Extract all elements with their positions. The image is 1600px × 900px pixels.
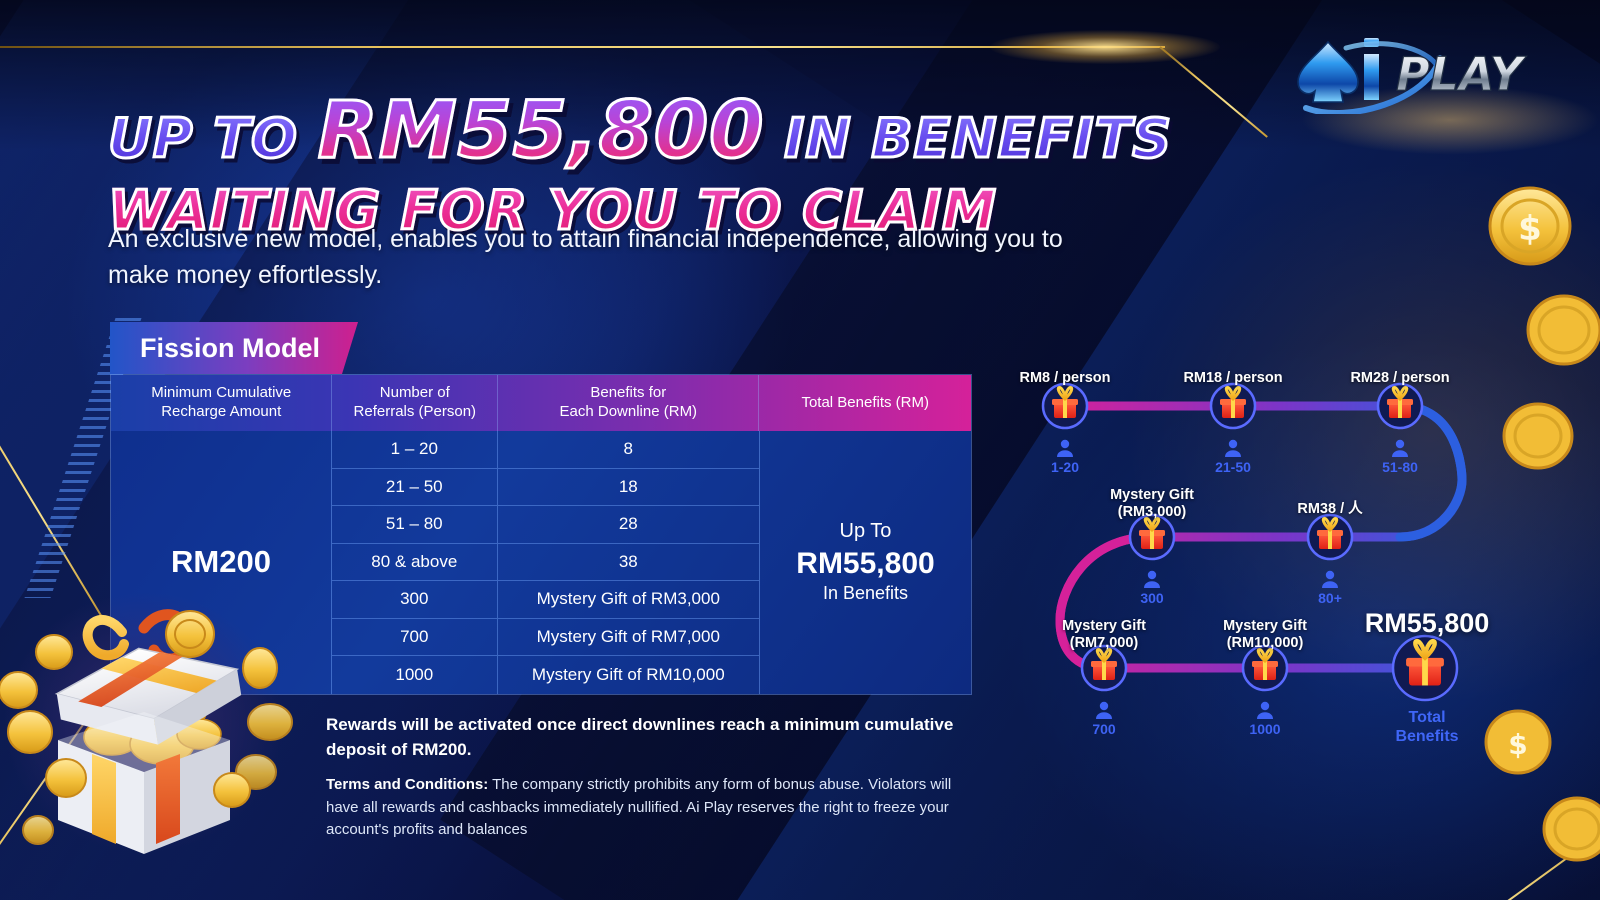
flow-node-label-line: RM18 / person	[1183, 370, 1282, 387]
cell-referrals: 300	[332, 581, 498, 618]
person-icon	[1225, 440, 1241, 457]
table-row: 21 – 5018	[332, 469, 759, 507]
flow-node-label-line: Mystery Gift	[1110, 487, 1194, 504]
flow-node-label-line: (RM3,000)	[1110, 504, 1194, 521]
th-line: Each Downline (RM)	[560, 403, 698, 422]
headline-up-to: UP TO	[108, 107, 298, 170]
fission-model-tab: Fission Model	[110, 322, 358, 374]
flow-total-label: TotalBenefits	[1395, 708, 1458, 746]
referral-flow-diagram: RM8 / person1-20RM18 / person21-50RM28 /…	[990, 350, 1530, 760]
coin-icon	[1500, 398, 1576, 474]
flow-node-label-line: Mystery Gift	[1223, 618, 1307, 635]
headline-amount: RM55,800	[318, 86, 765, 176]
total-up-to: Up To	[840, 520, 892, 543]
headline-line-1: UP TO RM55,800 IN BENEFITS	[108, 92, 1168, 170]
flow-node-label-line: Mystery Gift	[1062, 618, 1146, 635]
flow-node-count: 700	[1092, 721, 1115, 737]
gift-icon	[1393, 636, 1457, 700]
flow-node-label-line: RM28 / person	[1350, 370, 1449, 387]
flow-node-label-line: RM38 / 人	[1297, 501, 1362, 518]
activation-note: Rewards will be activated once direct do…	[326, 713, 976, 762]
person-icon	[1096, 702, 1112, 719]
table-header-total: Total Benefits (RM)	[759, 375, 971, 431]
gift-icon	[1308, 515, 1352, 559]
table-header-recharge: Minimum Cumulative Recharge Amount	[111, 375, 332, 431]
flow-node-count: 1000	[1249, 721, 1280, 737]
coin-icon: $	[1482, 706, 1554, 778]
total-benefits-cell: Up To RM55,800 In Benefits	[760, 431, 971, 694]
person-icon	[1392, 440, 1408, 457]
gift-icon	[1211, 384, 1255, 428]
cell-benefit: Mystery Gift of RM7,000	[498, 619, 759, 656]
th-line: Total Benefits (RM)	[801, 394, 929, 413]
table-row: 51 – 8028	[332, 506, 759, 544]
total-amount: RM55,800	[796, 547, 934, 581]
flow-node-count: 21-50	[1215, 459, 1251, 475]
table-row: 1000Mystery Gift of RM10,000	[332, 656, 759, 694]
cell-benefit: Mystery Gift of RM10,000	[498, 656, 759, 694]
th-line: Number of	[380, 384, 450, 403]
flow-node-label: RM8 / person	[1019, 370, 1110, 387]
flow-node-label: RM38 / 人	[1297, 501, 1362, 518]
brand-logo[interactable]: PLAY	[1288, 28, 1538, 114]
flow-node-label: RM28 / person	[1350, 370, 1449, 387]
flow-node-count: 1-20	[1051, 459, 1079, 475]
coin-icon: $	[1486, 182, 1574, 270]
gold-line-bottom-right-1	[1186, 804, 1600, 900]
cell-referrals: 700	[332, 619, 498, 656]
subtitle: An exclusive new model, enables you to a…	[108, 222, 1088, 293]
cell-benefit: Mystery Gift of RM3,000	[498, 581, 759, 618]
flow-node-label-line: (RM7,000)	[1062, 635, 1146, 652]
table-rows-container: 1 – 20821 – 501851 – 802880 & above38300…	[332, 431, 760, 694]
coin-icon	[1540, 792, 1600, 866]
table-row: 1 – 208	[332, 431, 759, 469]
person-icon	[1057, 440, 1073, 457]
flow-node-label-line: RM8 / person	[1019, 370, 1110, 387]
flow-total-amount: RM55,800	[1365, 608, 1490, 639]
table-row: 300Mystery Gift of RM3,000	[332, 581, 759, 619]
coin-icon	[1524, 290, 1600, 370]
flow-node-label: Mystery Gift(RM10,000)	[1223, 618, 1307, 653]
person-icon	[1257, 702, 1273, 719]
cell-referrals: 51 – 80	[332, 506, 498, 543]
cell-benefit: 8	[498, 431, 759, 468]
total-in-benefits: In Benefits	[823, 583, 908, 604]
th-line: Benefits for	[590, 384, 666, 403]
table-row: 700Mystery Gift of RM7,000	[332, 619, 759, 657]
flow-node-label: Mystery Gift(RM3,000)	[1110, 487, 1194, 522]
flow-node-label: RM18 / person	[1183, 370, 1282, 387]
gold-glare-icon	[990, 30, 1220, 64]
table-header-referrals: Number of Referrals (Person)	[332, 375, 498, 431]
cell-benefit: 18	[498, 469, 759, 506]
svg-text:$: $	[1518, 209, 1542, 249]
table-header-row: Minimum Cumulative Recharge Amount Numbe…	[111, 375, 971, 431]
cell-benefit: 38	[498, 544, 759, 581]
fission-model-label: Fission Model	[140, 333, 320, 364]
flow-node-count: 51-80	[1382, 459, 1418, 475]
flow-node-label-line: (RM10,000)	[1223, 635, 1307, 652]
person-icon	[1144, 571, 1160, 588]
terms-note: Terms and Conditions: The company strict…	[326, 774, 976, 842]
cell-referrals: 1 – 20	[332, 431, 498, 468]
gift-box-illustration	[0, 572, 304, 872]
svg-text:$: $	[1508, 728, 1527, 761]
th-line: Referrals (Person)	[354, 403, 477, 422]
flow-total-label-line: Total	[1395, 708, 1458, 727]
flow-total-label-line: Benefits	[1395, 727, 1458, 746]
table-header-benefits: Benefits for Each Downline (RM)	[498, 375, 759, 431]
promo-banner: PLAY UP TO RM55,800 IN BENEFITS WAITING …	[0, 0, 1600, 900]
gift-icon	[1043, 384, 1087, 428]
flow-node-count: 80+	[1318, 590, 1342, 606]
headline-in-benefits: IN BENEFITS	[784, 107, 1172, 170]
cell-referrals: 80 & above	[332, 544, 498, 581]
table-row: 80 & above38	[332, 544, 759, 582]
person-icon	[1322, 571, 1338, 588]
svg-text:PLAY: PLAY	[1396, 47, 1527, 101]
th-line: Recharge Amount	[161, 403, 281, 422]
gift-icon	[1378, 384, 1422, 428]
flow-node-count: 300	[1140, 590, 1163, 606]
cell-referrals: 21 – 50	[332, 469, 498, 506]
th-line: Minimum Cumulative	[151, 384, 291, 403]
cell-referrals: 1000	[332, 656, 498, 694]
terms-label: Terms and Conditions:	[326, 776, 488, 793]
cell-benefit: 28	[498, 506, 759, 543]
flow-node-label: Mystery Gift(RM7,000)	[1062, 618, 1146, 653]
headline: UP TO RM55,800 IN BENEFITS WAITING FOR Y…	[108, 92, 1168, 238]
